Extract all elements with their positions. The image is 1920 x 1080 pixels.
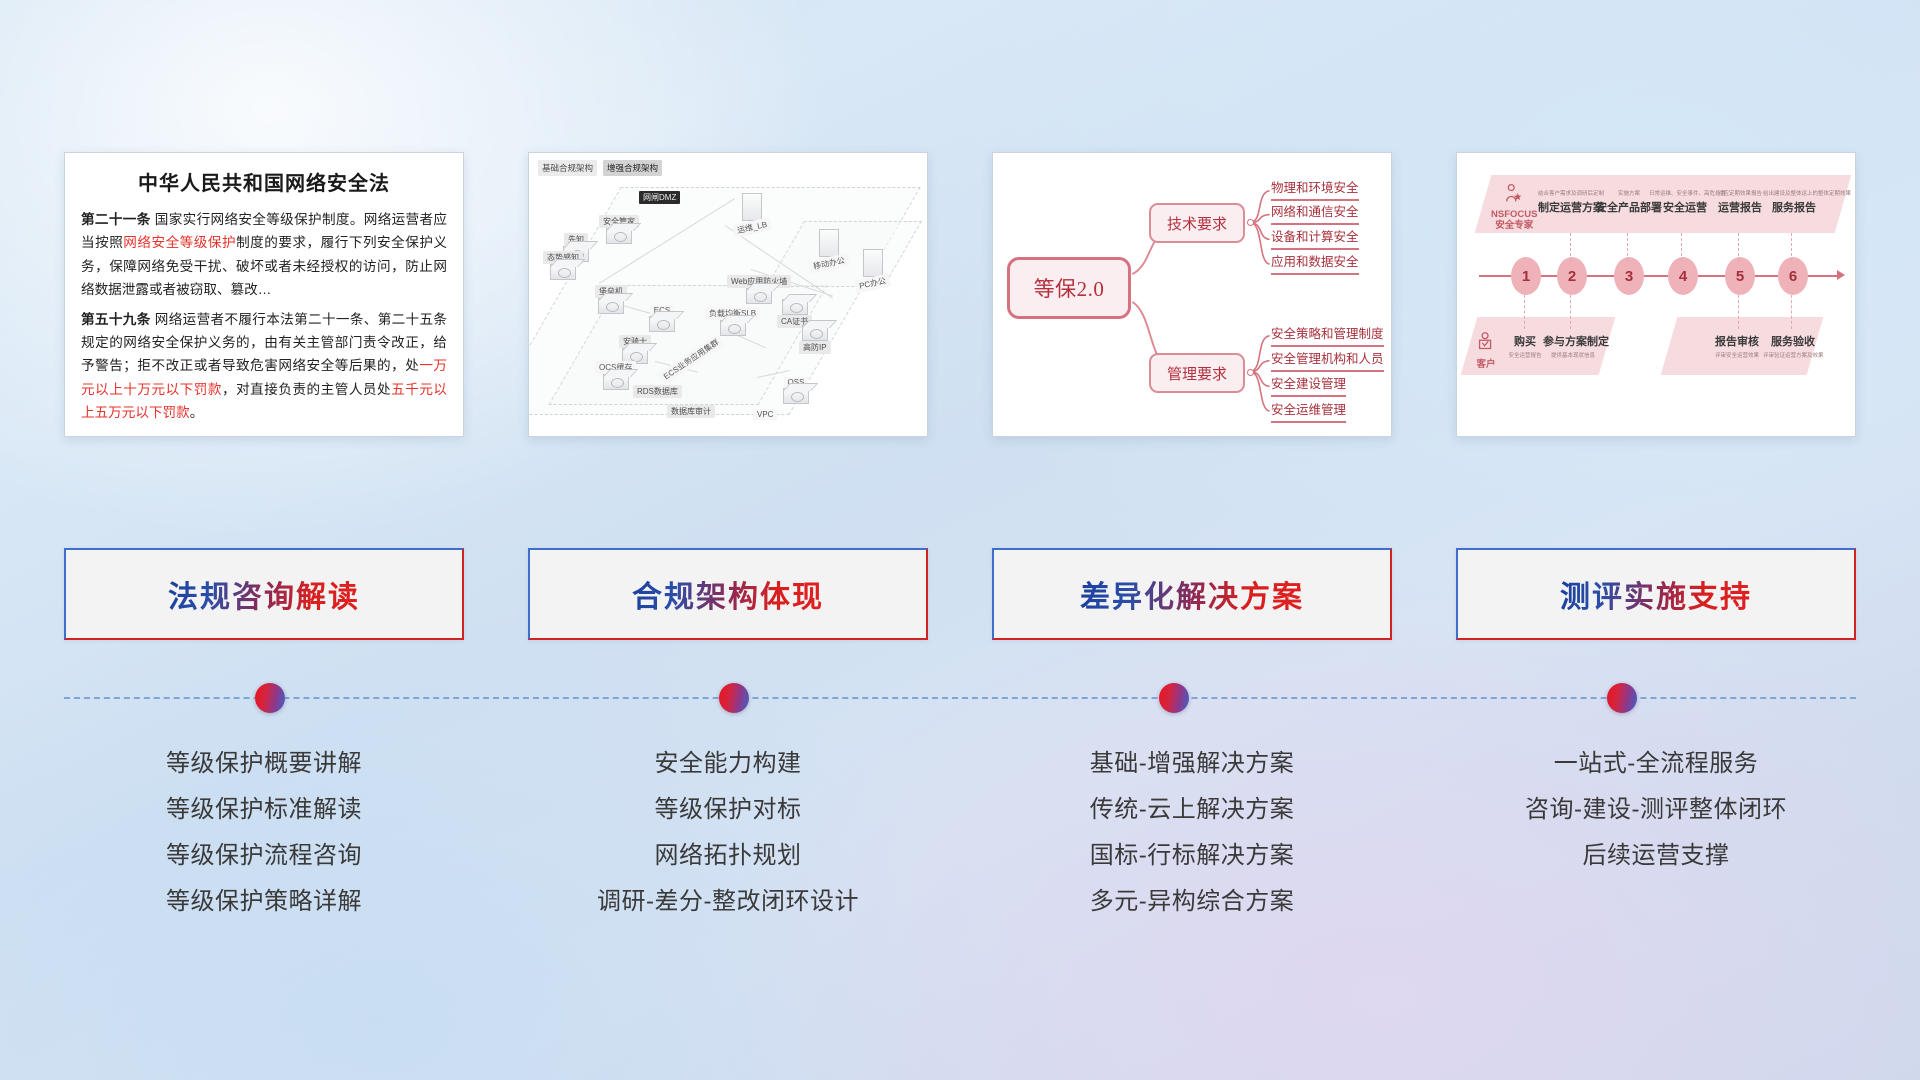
list-compliance-architecture: 安全能力构建 等级保护对标 网络拓扑规划 调研-差分-整改闭环设计 (528, 742, 928, 926)
timeline-step-top: 对应定期效果报告 运营报告 (1709, 189, 1771, 215)
list-item: 咨询-建设-测评整体闭环 (1456, 788, 1856, 834)
step-title: 购买 (1503, 333, 1547, 349)
list-item: 传统-云上解决方案 (992, 788, 1392, 834)
article-21-highlight: 网络安全等级保护 (123, 235, 236, 250)
list-item: 等级保护对标 (528, 788, 928, 834)
list-item: 网络拓扑规划 (528, 834, 928, 880)
step-title: 服务报告 (1763, 199, 1825, 215)
cube-icon (782, 299, 808, 315)
node-label: 数据库审计 (667, 405, 715, 418)
tab-basic-architecture[interactable]: 基础合规架构 (538, 160, 597, 176)
mindmap-leaf: 物理和环境安全 (1271, 177, 1359, 201)
timeline-node: 1 (1511, 257, 1541, 295)
mindmap-leaf: 应用和数据安全 (1271, 251, 1359, 275)
timeline-link (1570, 233, 1571, 261)
node-slb: 负载均衡SLB (705, 307, 760, 336)
step-subtitle: 提供基本现状信息 (1543, 351, 1603, 359)
law-title: 中华人民共和国网络安全法 (81, 167, 447, 196)
node-rds: RDS数据库 (633, 385, 682, 398)
image-cards-row: 中华人民共和国网络安全法 第二十一条 国家实行网络安全等级保护制度。网络运营者应… (0, 152, 1920, 442)
timeline-step-bottom: 服务验收 评审验证运营方案及效果 (1763, 333, 1823, 359)
node-pc-office: PC办公 (855, 249, 890, 290)
step-title: 报告审核 (1707, 333, 1767, 349)
timeline-node: 4 (1668, 257, 1698, 295)
customer-name: 客户 (1475, 360, 1497, 371)
heading-label: 测评实施支持 (1560, 572, 1752, 616)
list-item: 等级保护流程咨询 (64, 834, 464, 880)
customer-icon (1475, 331, 1497, 355)
list-differentiated-solutions: 基础-增强解决方案 传统-云上解决方案 国标-行标解决方案 多元-异构综合方案 (992, 742, 1392, 926)
mindmap-branch-technical: 技术要求 (1149, 203, 1245, 243)
step-subtitle: 评审安全运营效果 (1707, 351, 1767, 359)
node-security-housekeeper: 安全管家 (599, 215, 639, 244)
node-label: 网闸DMZ (639, 191, 680, 204)
list-item: 一站式-全流程服务 (1456, 742, 1856, 788)
node-vpc: VPC (753, 409, 777, 420)
article-59-end: 。 (190, 405, 204, 420)
node-label: PC办公 (854, 273, 891, 293)
card-mindmap: 等保2.0 技术要求 物理和环境安全 网络和通信安全 设备和计算安全 应用和数据… (992, 152, 1392, 437)
card-service-timeline: NSFOCUS 安全专家 客户 1 2 3 4 5 6 结合客户需求及调研 (1456, 152, 1856, 437)
server-icon (819, 229, 839, 257)
node-bastion-host: 堡垒机 (595, 285, 627, 314)
timeline-step-bottom: 购买 安全运营报告 (1503, 333, 1547, 359)
timeline-step-bottom: 报告审核 评审安全运营效果 (1707, 333, 1767, 359)
timeline-dot-1 (255, 683, 285, 713)
cube-icon (746, 288, 772, 304)
step-title: 运营报告 (1709, 199, 1771, 215)
mindmap-leaf: 网络和通信安全 (1271, 201, 1359, 225)
article-59-mid: ，对直接负责的主管人员处 (222, 382, 391, 397)
node-dmz-gateway: 网闸DMZ (639, 191, 680, 204)
timeline-link (1791, 295, 1792, 329)
heading-box-evaluation-support[interactable]: 测评实施支持 (1456, 548, 1856, 640)
mindmap-leaf: 安全运维管理 (1271, 399, 1346, 423)
list-item: 调研-差分-整改闭环设计 (528, 880, 928, 926)
node-ops-lb: 运维_LB (733, 193, 771, 234)
step-subtitle: 给出建设及整体运上的整体定期效果 (1763, 189, 1825, 197)
timeline-step-top: 给出建设及整体运上的整体定期效果 服务报告 (1763, 189, 1825, 215)
timeline-node: 3 (1614, 257, 1644, 295)
provider-name-line2: 安全专家 (1491, 221, 1537, 232)
timeline-divider (64, 697, 1856, 699)
heading-label: 法规咨询解读 (168, 572, 360, 616)
heading-box-differentiated-solutions[interactable]: 差异化解决方案 (992, 548, 1392, 640)
branch-connector-dot-icon (1247, 219, 1254, 226)
customer-actor: 客户 (1475, 331, 1497, 371)
security-expert-icon (1503, 183, 1525, 205)
node-db-audit: 数据库审计 (667, 405, 715, 418)
architecture-canvas: 网闸DMZ 安全管家 先知 态势感知 堡垒机 运维_LB (537, 173, 919, 428)
branch-connector-dot-icon (1247, 369, 1254, 376)
law-article-21: 第二十一条 国家实行网络安全等级保护制度。网络运营者应当按照网络安全等级保护制度… (81, 208, 447, 302)
mindmap-branch-management: 管理要求 (1149, 353, 1245, 393)
mindmap-leaf: 安全管理机构和人员 (1271, 348, 1384, 372)
card-cloud-architecture: 基础合规架构 增强合规架构 网闸DMZ 安全管家 先知 (528, 152, 928, 437)
step-subtitle: 安全运营报告 (1503, 351, 1547, 359)
article-21-label: 第二十一条 (81, 212, 151, 227)
list-item: 安全能力构建 (528, 742, 928, 788)
cube-icon (603, 374, 629, 390)
tab-enhanced-architecture[interactable]: 增强合规架构 (603, 160, 662, 176)
timeline-dot-2 (719, 683, 749, 713)
step-subtitle: 对应定期效果报告 (1709, 189, 1771, 197)
timeline-dot-3 (1159, 683, 1189, 713)
node-situational-awareness: 态势感知 (543, 251, 583, 280)
timeline-step-bottom: 参与方案制定 提供基本现状信息 (1543, 333, 1603, 359)
timeline-link (1627, 233, 1628, 261)
cube-icon (649, 316, 675, 332)
node-mobile-office: 移动办公 (809, 229, 849, 270)
node-label: 高防IP (799, 341, 831, 354)
provider-actor: NSFOCUS 安全专家 (1491, 183, 1537, 232)
node-ecs: ECS (649, 305, 675, 332)
mindmap-root: 等保2.0 (1007, 257, 1131, 319)
cube-icon (598, 298, 624, 314)
list-item: 等级保护概要讲解 (64, 742, 464, 788)
timeline-link (1681, 233, 1682, 261)
list-regulatory-consulting: 等级保护概要讲解 等级保护标准解读 等级保护流程咨询 等级保护策略详解 (64, 742, 464, 926)
timeline-link (1791, 233, 1792, 261)
card-cybersecurity-law: 中华人民共和国网络安全法 第二十一条 国家实行网络安全等级保护制度。网络运营者应… (64, 152, 464, 437)
mindmap-leaf: 设备和计算安全 (1271, 226, 1359, 250)
server-icon (742, 193, 762, 221)
mindmap-leaf: 安全建设管理 (1271, 373, 1346, 397)
architecture-tabs: 基础合规架构 增强合规架构 (538, 160, 662, 176)
mindmap-leaf: 安全策略和管理制度 (1271, 323, 1384, 347)
list-item: 等级保护策略详解 (64, 880, 464, 926)
timeline-dot-4 (1607, 683, 1637, 713)
timeline-node: 6 (1778, 257, 1808, 295)
node-anti-ddos-ip: 高防IP (799, 325, 831, 354)
list-item: 基础-增强解决方案 (992, 742, 1392, 788)
node-anqishi: 安骑士 (619, 335, 651, 364)
cube-icon (783, 388, 809, 404)
law-article-59: 第五十九条 网络运营者不履行本法第二十一条、第二十五条规定的网络安全保护义务的，… (81, 308, 447, 425)
cube-icon (550, 264, 576, 280)
list-item: 等级保护标准解读 (64, 788, 464, 834)
heading-label: 合规架构体现 (632, 572, 824, 616)
bottom-lists-row: 等级保护概要讲解 等级保护标准解读 等级保护流程咨询 等级保护策略详解 安全能力… (0, 742, 1920, 926)
timeline-arrow-icon (1837, 270, 1845, 280)
step-title: 服务验收 (1763, 333, 1823, 349)
heading-box-regulatory-consulting[interactable]: 法规咨询解读 (64, 548, 464, 640)
node-label: VPC (753, 409, 777, 420)
cube-icon (720, 320, 746, 336)
heading-label: 差异化解决方案 (1080, 572, 1304, 616)
node-ocs-cache: OCS缓存 (595, 361, 636, 390)
timeline-node: 5 (1725, 257, 1755, 295)
timeline-link (1570, 295, 1571, 329)
headings-row: 法规咨询解读 合规架构体现 差异化解决方案 测评实施支持 (0, 548, 1920, 640)
step-subtitle: 评审验证运营方案及效果 (1763, 351, 1823, 359)
cube-icon (606, 228, 632, 244)
timeline-link (1738, 233, 1739, 261)
timeline-node: 2 (1557, 257, 1587, 295)
heading-box-compliance-architecture[interactable]: 合规架构体现 (528, 548, 928, 640)
step-title: 参与方案制定 (1543, 333, 1603, 349)
node-oss: OSS (783, 377, 809, 404)
server-icon (863, 249, 883, 277)
timeline-link (1524, 295, 1525, 329)
list-item: 后续运营支撑 (1456, 834, 1856, 880)
article-59-label: 第五十九条 (81, 312, 151, 327)
node-label: RDS数据库 (633, 385, 682, 398)
list-item: 多元-异构综合方案 (992, 880, 1392, 926)
list-item: 国标-行标解决方案 (992, 834, 1392, 880)
cube-icon (802, 325, 828, 341)
timeline-link (1738, 295, 1739, 329)
list-evaluation-support: 一站式-全流程服务 咨询-建设-测评整体闭环 后续运营支撑 (1456, 742, 1856, 926)
